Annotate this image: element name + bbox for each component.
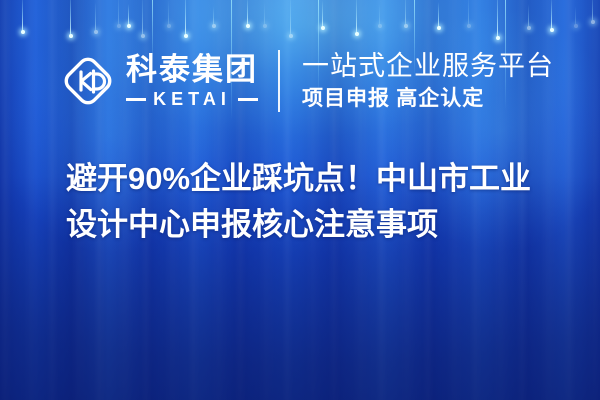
falling-streak — [118, 0, 119, 26]
falling-streak — [405, 0, 406, 26]
falling-streak — [22, 0, 23, 32]
brand-logo: 科泰集团 KETAI — [62, 54, 258, 108]
tagline: 一站式企业服务平台 项目申报 高企认定 — [302, 52, 554, 110]
brand-name-cn: 科泰集团 — [126, 54, 258, 85]
promo-banner: 科泰集团 KETAI 一站式企业服务平台 项目申报 高企认定 避开90%企业踩坑… — [0, 0, 600, 400]
falling-streak — [70, 0, 71, 36]
falling-streak — [264, 2, 265, 26]
falling-streak — [438, 2, 439, 28]
falling-streak — [247, 0, 248, 26]
headline: 避开90%企业踩坑点！中山市工业 设计中心申报核心注意事项 — [66, 156, 566, 248]
falling-streak — [379, 4, 380, 26]
headline-line-2: 设计中心申报核心注意事项 — [66, 202, 566, 248]
falling-streak — [528, 4, 529, 28]
falling-streak — [575, 6, 576, 26]
tagline-main: 一站式企业服务平台 — [302, 52, 554, 80]
falling-streak — [290, 0, 291, 36]
falling-streak — [95, 2, 96, 32]
headline-line-1: 避开90%企业踩坑点！中山市工业 — [66, 156, 566, 202]
falling-streak — [322, 0, 323, 28]
wordmark-dash-left — [126, 98, 146, 101]
falling-streak — [142, 0, 143, 36]
wordmark-dash-right — [238, 98, 258, 101]
ketai-diamond-kd-logo-icon — [62, 55, 114, 107]
falling-streak — [592, 0, 593, 22]
falling-streak — [213, 6, 214, 26]
falling-streak — [356, 0, 357, 34]
falling-streak — [551, 0, 552, 30]
falling-streak — [468, 0, 469, 26]
header-divider — [278, 50, 280, 112]
tagline-sub: 项目申报 高企认定 — [302, 87, 554, 110]
brand-name-en: KETAI — [146, 90, 238, 108]
falling-streak — [185, 0, 186, 36]
falling-streak — [168, 0, 169, 26]
banner-header: 科泰集团 KETAI 一站式企业服务平台 项目申报 高企认定 — [0, 40, 600, 122]
falling-streak — [128, 4, 129, 26]
falling-streak — [497, 0, 498, 38]
brand-name-en-row: KETAI — [126, 90, 258, 108]
brand-wordmark: 科泰集团 KETAI — [126, 54, 258, 108]
